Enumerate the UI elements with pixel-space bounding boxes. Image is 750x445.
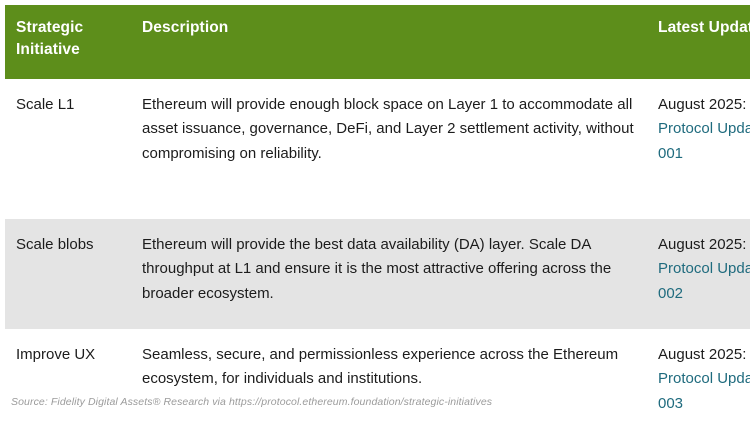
table-row: Scale blobs Ethereum will provide the be… (5, 219, 750, 329)
cell-initiative: Scale blobs (5, 219, 134, 329)
strategic-initiatives-table: Strategic Initiative Description Latest … (5, 5, 750, 445)
cell-description: Ethereum will provide enough block space… (134, 79, 652, 219)
cell-description: Ethereum will provide the best data avai… (134, 219, 652, 329)
protocol-update-link[interactable]: Protocol Update 001 (658, 117, 750, 166)
update-date: August 2025: (658, 93, 750, 117)
table-row: Scale L1 Ethereum will provide enough bl… (5, 79, 750, 219)
cell-latest-update: August 2025: Protocol Update 002 (652, 219, 750, 329)
update-date: August 2025: (658, 343, 750, 367)
source-attribution: Source: Fidelity Digital Assets® Researc… (11, 396, 492, 408)
table-body: Scale L1 Ethereum will provide enough bl… (5, 79, 750, 445)
table-header: Strategic Initiative Description Latest … (5, 5, 750, 79)
header-latest-update: Latest Update (652, 5, 750, 79)
protocol-update-link[interactable]: Protocol Update 003 (658, 367, 750, 416)
table-container: Strategic Initiative Description Latest … (5, 5, 735, 445)
cell-initiative: Scale L1 (5, 79, 134, 219)
update-date: August 2025: (658, 233, 750, 257)
protocol-update-link[interactable]: Protocol Update 002 (658, 257, 750, 306)
cell-latest-update: August 2025: Protocol Update 001 (652, 79, 750, 219)
header-strategic-initiative: Strategic Initiative (5, 5, 134, 79)
header-description: Description (134, 5, 652, 79)
strategic-initiatives-table-figure: Strategic Initiative Description Latest … (0, 0, 750, 428)
header-row: Strategic Initiative Description Latest … (5, 5, 750, 79)
